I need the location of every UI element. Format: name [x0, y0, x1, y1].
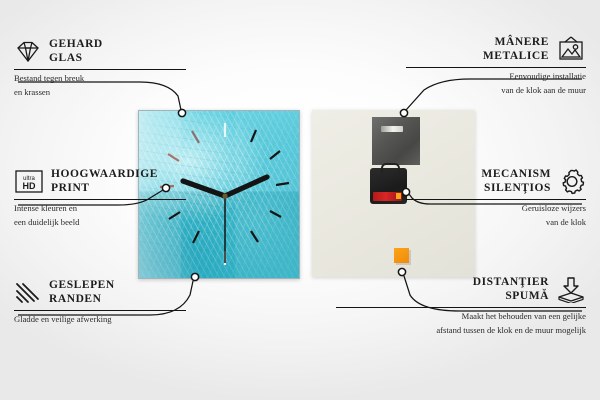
- minute-hand: [225, 177, 267, 196]
- feature-divider: [406, 199, 586, 200]
- feature-title-line2: SILENŢIOS: [481, 182, 551, 196]
- feature-title-line2: SPUMĂ: [473, 290, 549, 304]
- feature-desc-line1: Geruisloze wijzers: [406, 203, 586, 214]
- hanger-slot: [381, 126, 403, 132]
- ultra-hd-icon-bottom: HD: [23, 181, 36, 191]
- feature-divider: [14, 199, 186, 200]
- gear-icon: [558, 168, 586, 195]
- feature-title-line2: PRINT: [51, 182, 158, 196]
- hand-pivot: [222, 193, 227, 198]
- quartz-mechanism: [370, 168, 407, 204]
- feature-gehard-glas: GEHARD GLAS Bestand tegen breuk en krass…: [14, 38, 186, 98]
- diamond-icon: [14, 40, 42, 64]
- feature-title-line1: MECANISM: [481, 168, 551, 182]
- feature-desc-line2: een duidelijk beeld: [14, 217, 186, 228]
- feature-title-line1: GESLEPEN: [49, 279, 115, 293]
- feature-desc-line1: Maakt het behouden van een gelijke: [336, 311, 586, 322]
- feature-desc-line2: van de klok aan de muur: [406, 85, 586, 96]
- picture-frame-icon: [556, 36, 586, 63]
- feature-title-line1: GEHARD: [49, 38, 103, 52]
- feature-desc-line1: Bestand tegen breuk: [14, 73, 186, 84]
- feature-desc-line1: Gladde en veilige afwerking: [14, 314, 186, 325]
- feature-hoogwaardige-print: ultra HD HOOGWAARDIGE PRINT Intense kleu…: [14, 168, 186, 228]
- feature-desc-line2: afstand tussen de klok en de muur mogeli…: [336, 325, 586, 336]
- feature-title-line2: RANDEN: [49, 293, 115, 307]
- feature-geslepen-randen: GESLEPEN RANDEN Gladde en veilige afwerk…: [14, 279, 186, 325]
- feature-desc-line1: Intense kleuren en: [14, 203, 186, 214]
- feature-desc-line2: en krassen: [14, 87, 186, 98]
- feature-title-line2: METALICE: [483, 50, 549, 64]
- battery: [373, 192, 402, 201]
- hanger-plate: [372, 117, 420, 165]
- beveled-edges-icon: [14, 281, 42, 305]
- feature-divider: [406, 67, 586, 68]
- feature-title-line2: GLAS: [49, 52, 103, 66]
- feature-distantier-spuma: DISTANŢIER SPUMĂ Maakt het behouden van …: [336, 276, 586, 336]
- feature-divider: [336, 307, 586, 308]
- feature-title-line1: MÂNERE: [483, 36, 549, 50]
- foam-spacer: [394, 248, 409, 263]
- ultra-hd-icon: ultra HD: [14, 169, 44, 194]
- feature-mecanism-silentios: MECANISM SILENŢIOS Geruisloze wijzers va…: [406, 168, 586, 228]
- battery-terminal: [396, 193, 401, 199]
- hanger-loop: [381, 163, 400, 173]
- feature-desc-line1: Eenvoudige installatie: [406, 71, 586, 82]
- feature-title-line1: HOOGWAARDIGE: [51, 168, 158, 182]
- feature-desc-line2: van de klok: [406, 217, 586, 228]
- feature-divider: [14, 69, 186, 70]
- infographic-canvas: GEHARD GLAS Bestand tegen breuk en krass…: [0, 0, 600, 400]
- feature-manere-metalice: MÂNERE METALICE Eenvoudige installatie v…: [406, 36, 586, 96]
- feature-divider: [14, 310, 186, 311]
- feature-title-line1: DISTANŢIER: [473, 276, 549, 290]
- clock-hands: [183, 177, 267, 263]
- spacer-down-arrow-icon: [556, 276, 586, 303]
- hour-hand: [183, 181, 225, 196]
